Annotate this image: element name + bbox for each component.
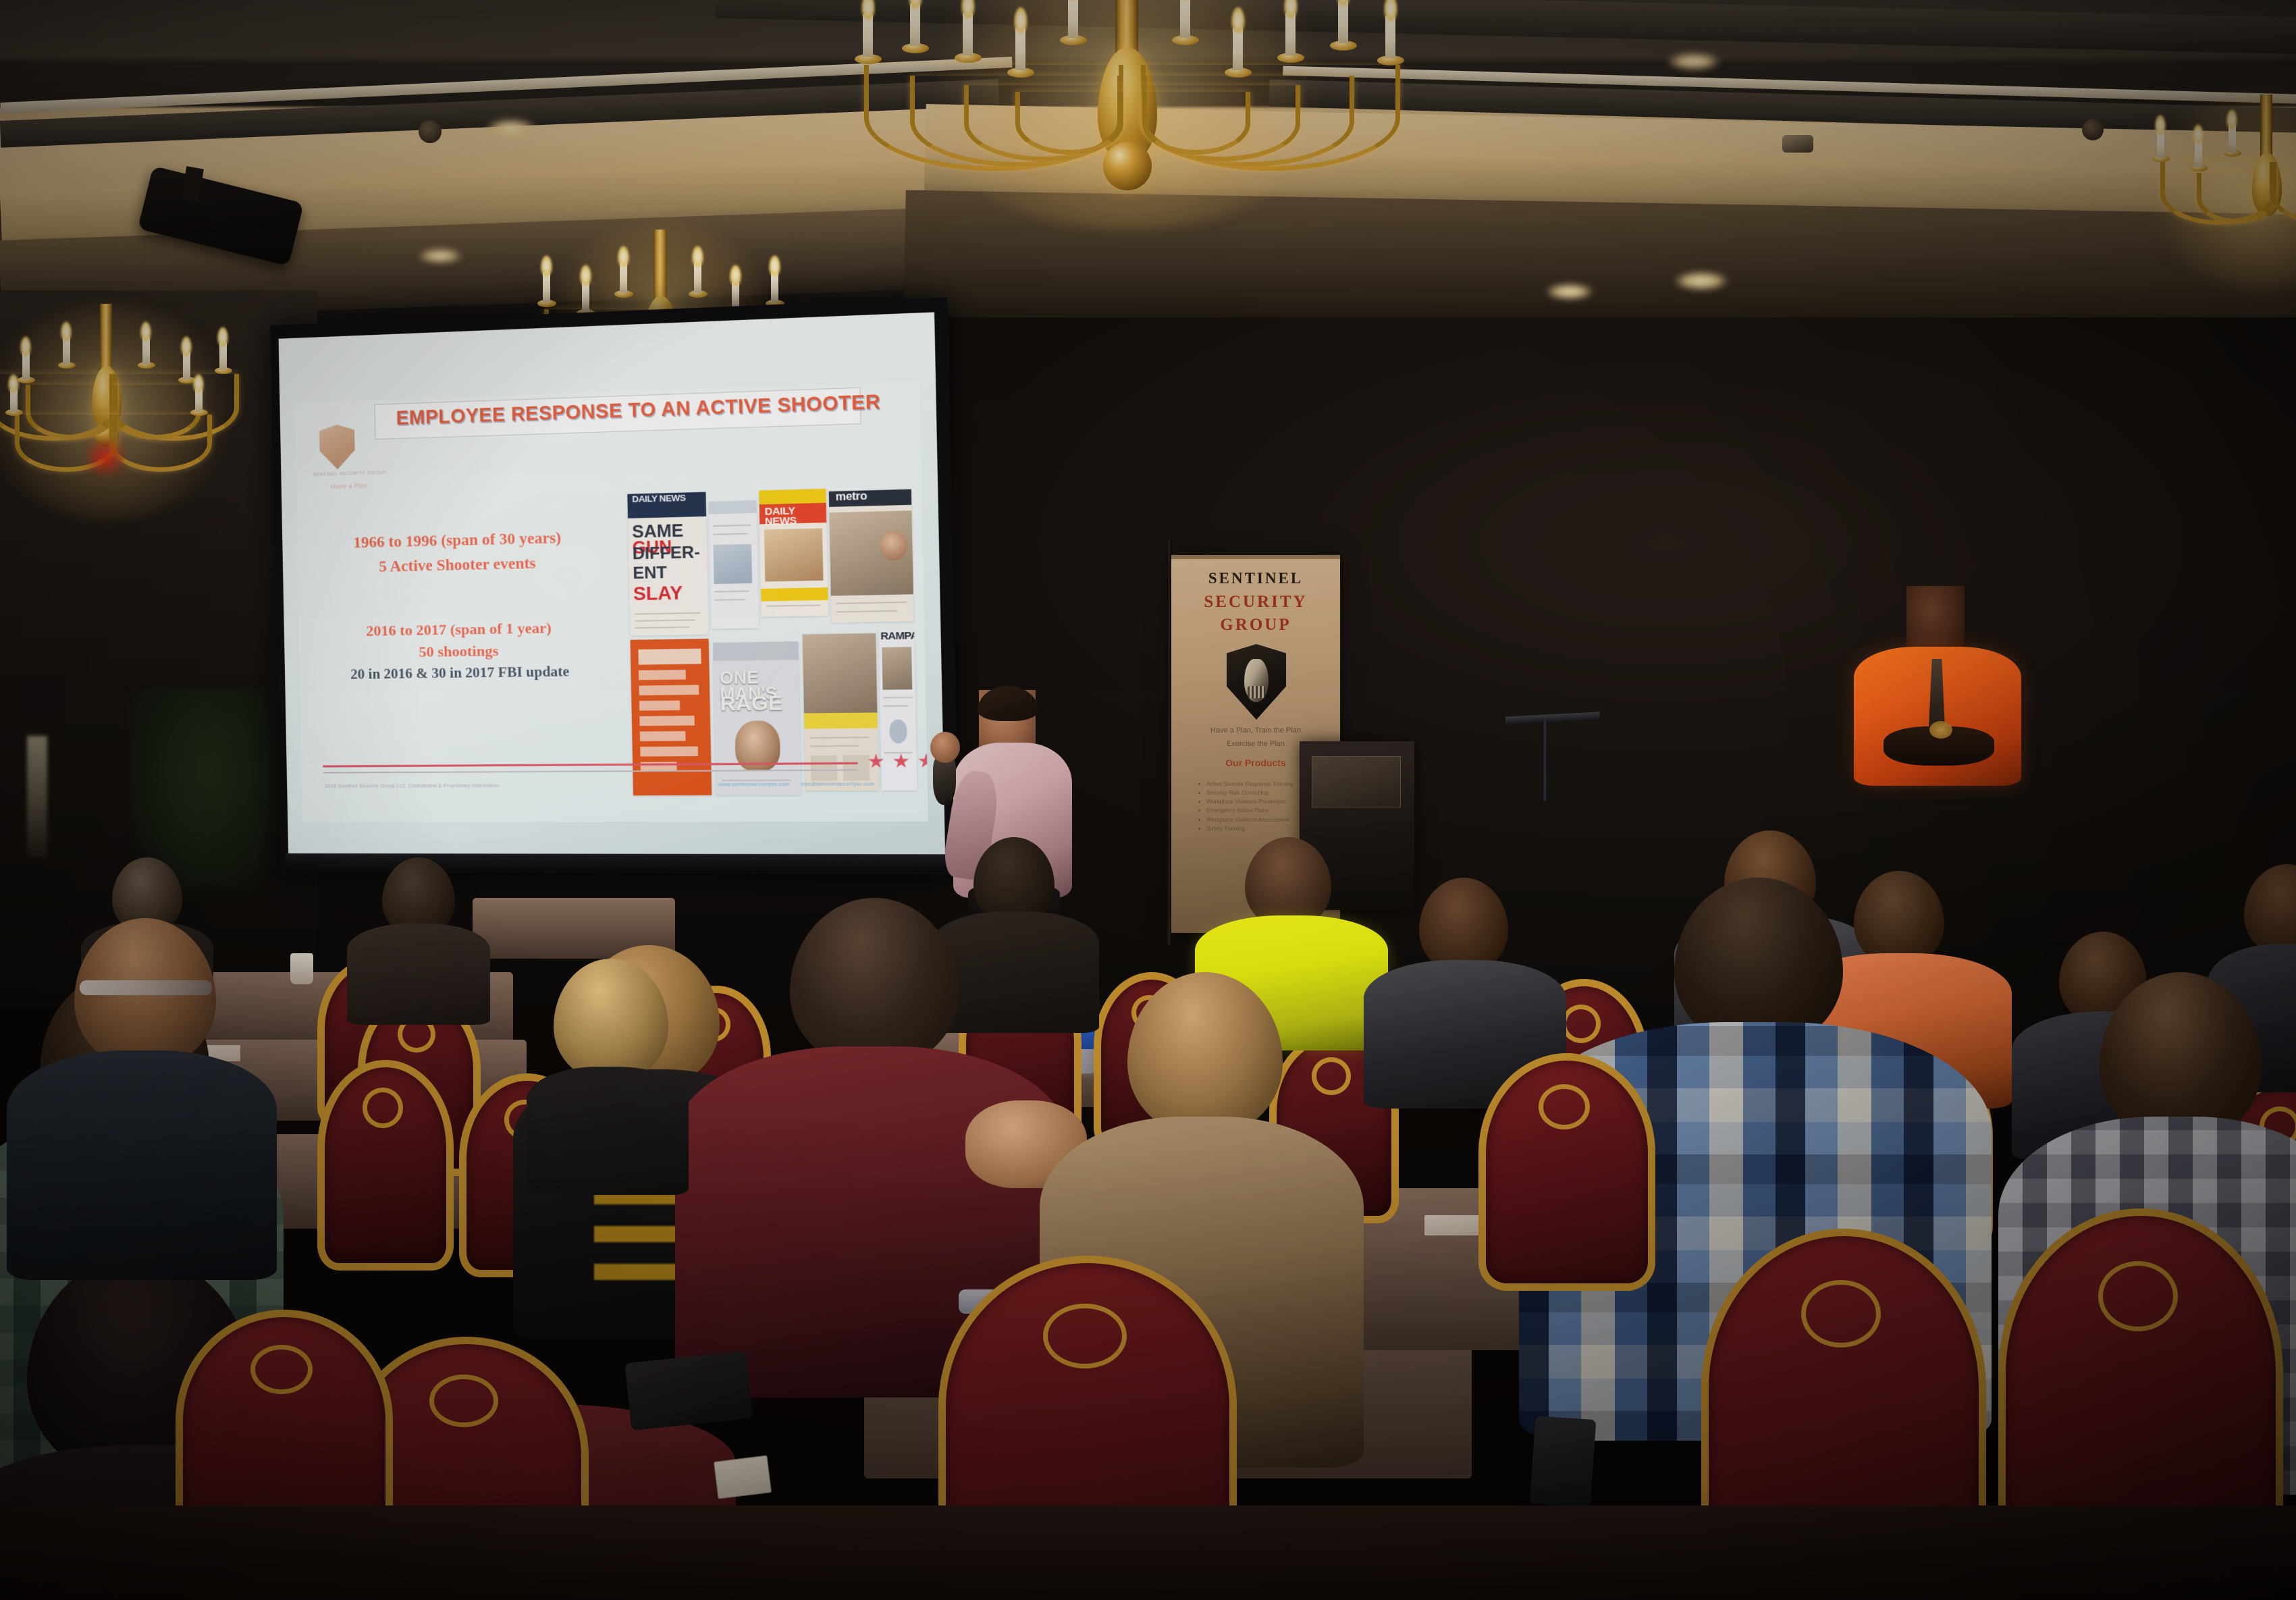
chandelier-right (2147, 95, 2296, 311)
newspaper-clipping (631, 639, 712, 795)
slide-email-link[interactable]: info@sentinelsecuritysv.com (801, 780, 875, 787)
wall-sconce-glow (27, 736, 47, 857)
presentation-slide: EMPLOYEE RESPONSE TO AN ACTIVE SHOOTER S… (294, 381, 928, 822)
projection-screen: EMPLOYEE RESPONSE TO AN ACTIVE SHOOTER S… (270, 298, 959, 874)
standing-man-head (1906, 586, 1965, 656)
ceiling-speaker (2082, 119, 2104, 140)
microphone-stand-post (1543, 720, 1547, 801)
carpet-floor (0, 1505, 2296, 1600)
banner-tagline-1: Have a Plan, Train the Plan (1171, 726, 1340, 735)
clipping-masthead: metro (835, 492, 867, 504)
conference-room-photo: EMPLOYEE RESPONSE TO AN ACTIVE SHOOTER S… (0, 0, 2296, 1600)
star-icon (918, 753, 928, 769)
banquet-chair[interactable] (317, 1060, 439, 1256)
banquet-chair[interactable] (1478, 1053, 1640, 1276)
lectern-front-panel (1312, 756, 1401, 807)
newspaper-clipping: ONE MAN'S RAGE (713, 641, 801, 795)
knight-helmet-icon (1244, 659, 1269, 702)
slide-website-link[interactable]: www.sentinelsecuritysv.com (718, 781, 789, 788)
slide-logo-sub: Have a Plan (299, 481, 401, 491)
recessed-downlight (1667, 53, 1720, 70)
eyeglasses-icon (80, 980, 212, 995)
name-badge (714, 1455, 772, 1499)
newspaper-collage: DAILY NEWS SAME GUN DIFFER- ENT SLAY (627, 486, 917, 799)
screen-surface: EMPLOYEE RESPONSE TO AN ACTIVE SHOOTER S… (279, 312, 946, 859)
standing-man-hand (1929, 721, 1952, 739)
banner-line-sentinel: SENTINEL (1171, 570, 1340, 587)
slide-line-3: 2016 to 2017 (span of 1 year) (304, 618, 616, 641)
slide-line-1: 1966 to 1996 (span of 30 years) (306, 528, 610, 553)
sentinel-shield-icon (319, 424, 355, 470)
slide-footer-text: 2018 Sentinel Security Group LLC Confide… (325, 781, 686, 789)
shield-helmet-icon (1227, 644, 1286, 720)
newspaper-clipping: DAILY NEWS SAME GUN DIFFER- ENT SLAY (627, 492, 708, 636)
newspaper-clipping: DAILY NEWS (759, 489, 828, 617)
recessed-downlight (1674, 271, 1728, 290)
belt-pouch (624, 1351, 752, 1431)
slide-stars (867, 753, 928, 772)
newspaper-clipping: metro (829, 489, 914, 623)
slide-line-2: 5 Active Shooter events (307, 553, 611, 577)
clipping-masthead: DAILY NEWS (632, 494, 685, 504)
recessed-downlight (419, 248, 462, 263)
audience-member-with-glasses (7, 918, 277, 1269)
exit-sign-glow (85, 439, 126, 477)
banner-line-group: GROUP (1171, 616, 1340, 635)
chandelier-left (0, 304, 257, 527)
banner-line-security: SECURITY (1171, 593, 1340, 612)
star-icon (893, 753, 910, 769)
paper-cup (290, 953, 313, 984)
newspaper-clipping (803, 633, 879, 791)
clipping-masthead: RAMPAGE (880, 631, 917, 642)
newspaper-clipping (709, 500, 759, 629)
clipping-masthead: DAILY NEWS (765, 506, 827, 527)
recessed-downlight (486, 119, 536, 138)
slide-line-5: 20 in 2016 & 30 in 2017 FBI update (300, 662, 622, 684)
man-in-orange-shirt (1848, 586, 2027, 809)
slide-footer-links: www.sentinelsecuritysv.com info@sentinel… (718, 780, 928, 788)
slide-logo-caption: SENTINEL SECURITY GROUP (305, 471, 394, 478)
ceiling-sprinkler (1782, 135, 1813, 153)
phone-in-pocket (1530, 1416, 1597, 1508)
presenter-hand (930, 732, 960, 763)
recessed-downlight (1546, 284, 1593, 300)
chandelier-center (837, 0, 1418, 243)
audience-member (344, 857, 493, 1019)
audience-member-blonde (527, 959, 689, 1181)
slide-line-4: 50 shootings (304, 640, 616, 662)
banner-top-rail (1171, 555, 1340, 559)
ceiling-speaker (419, 120, 442, 143)
star-icon (867, 753, 884, 769)
